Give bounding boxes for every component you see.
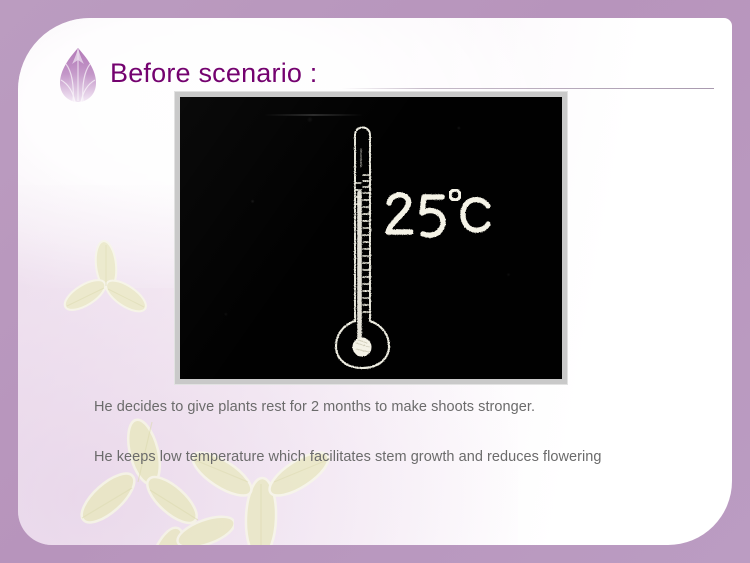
body-text-line-1: He decides to give plants rest for 2 mon… <box>94 399 535 415</box>
leaf-cluster-lower-center <box>186 430 336 545</box>
leaf-cluster-upper-left <box>58 240 154 332</box>
tulip-flower-icon <box>56 46 100 104</box>
thermometer-chalk-drawing <box>180 97 562 379</box>
leaf-cluster-lower-left <box>72 418 212 545</box>
body-text-line-2: He keeps low temperature which facilitat… <box>94 449 602 465</box>
title-divider-rule <box>113 88 714 89</box>
thermometer-photo-frame[interactable] <box>175 92 567 384</box>
leaf-cluster-bottom-left <box>114 486 234 545</box>
thermometer-photo <box>180 97 562 379</box>
slide-root: Before scenario : <box>0 0 750 563</box>
page-title: Before scenario : <box>110 58 318 89</box>
slide-content-panel: Before scenario : <box>18 18 732 545</box>
